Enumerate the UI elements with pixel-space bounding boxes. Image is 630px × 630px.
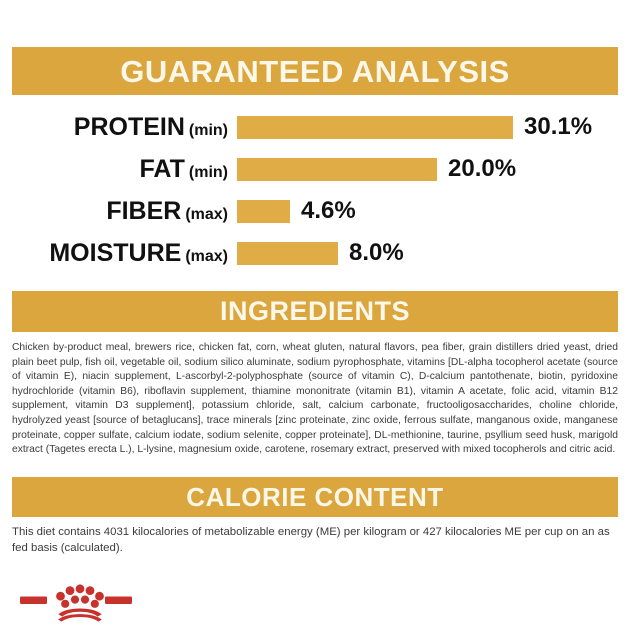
bar-area-fiber: 4.6% [237, 194, 630, 228]
bar-value-fat: 20.0% [448, 157, 516, 181]
bar-moisture [237, 242, 338, 265]
nutrient-label-protein: PROTEIN(min) [0, 115, 228, 140]
bar-fiber [237, 200, 290, 223]
nutrient-qualifier-moisture: (max) [185, 248, 228, 265]
bar-value-protein: 30.1% [524, 115, 592, 139]
nutrient-label-moisture: MOISTURE(max) [0, 241, 228, 266]
ingredients-title: INGREDIENTS [220, 298, 410, 325]
calorie-content-header: CALORIE CONTENT [12, 477, 618, 517]
ingredients-header: INGREDIENTS [12, 291, 618, 332]
nutrient-row-protein: PROTEIN(min) 30.1% [0, 110, 630, 144]
ingredients-text: Chicken by-product meal, brewers rice, c… [12, 341, 618, 458]
bar-value-fiber: 4.6% [301, 199, 356, 223]
nutrient-name-fiber: FIBER [106, 197, 181, 225]
royal-canin-crown-logo [20, 583, 132, 623]
bar-protein [237, 116, 513, 139]
nutrient-qualifier-fat: (min) [189, 164, 228, 181]
nutrient-row-moisture: MOISTURE(max) 8.0% [0, 236, 630, 270]
guaranteed-analysis-header: GUARANTEED ANALYSIS [12, 47, 618, 95]
nutrient-row-fiber: FIBER(max) 4.6% [0, 194, 630, 228]
nutrient-label-fat: FAT(min) [0, 157, 228, 182]
guaranteed-analysis-title: GUARANTEED ANALYSIS [120, 56, 510, 87]
calorie-content-title: CALORIE CONTENT [186, 484, 443, 510]
bar-area-fat: 20.0% [237, 152, 630, 186]
crown-icon [20, 583, 132, 623]
bar-value-moisture: 8.0% [349, 241, 404, 265]
nutrient-label-fiber: FIBER(max) [0, 199, 228, 224]
nutrient-qualifier-protein: (min) [189, 122, 228, 139]
nutrient-name-fat: FAT [140, 155, 185, 183]
guaranteed-analysis-chart: PROTEIN(min) 30.1% FAT(min) 20.0% FIBER(… [0, 110, 630, 270]
nutrient-name-moisture: MOISTURE [49, 239, 181, 267]
bar-area-protein: 30.1% [237, 110, 630, 144]
calorie-content-text: This diet contains 4031 kilocalories of … [12, 524, 618, 556]
nutrition-panel: GUARANTEED ANALYSIS PROTEIN(min) 30.1% F… [0, 0, 630, 630]
nutrient-name-protein: PROTEIN [74, 113, 185, 141]
nutrient-row-fat: FAT(min) 20.0% [0, 152, 630, 186]
bar-area-moisture: 8.0% [237, 236, 630, 270]
nutrient-qualifier-fiber: (max) [185, 206, 228, 223]
bar-fat [237, 158, 437, 181]
